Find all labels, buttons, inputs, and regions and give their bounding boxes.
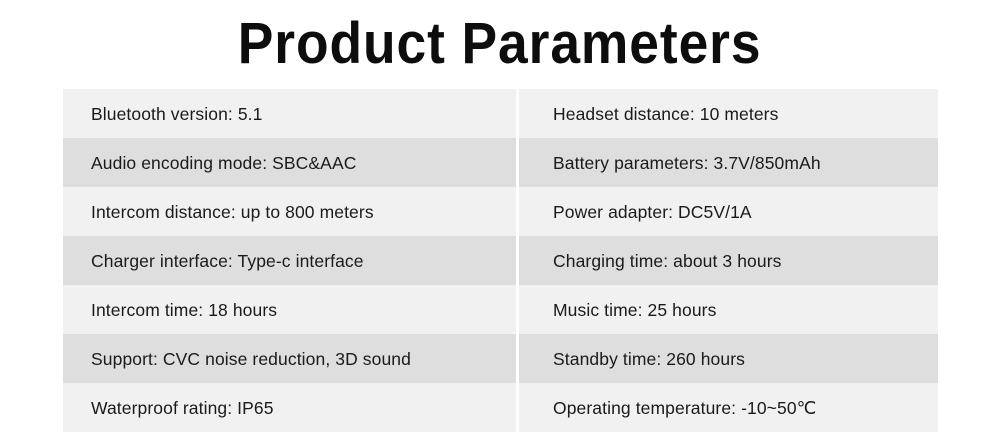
- spec-cell-left: Intercom distance: up to 800 meters: [63, 187, 515, 236]
- table-row: Intercom distance: up to 800 meters Powe…: [63, 187, 938, 236]
- table-row: Waterproof rating: IP65 Operating temper…: [63, 383, 938, 432]
- spec-text: Intercom distance: up to 800 meters: [91, 202, 374, 222]
- table-row: Intercom time: 18 hours Music time: 25 h…: [63, 285, 938, 334]
- spec-text: Bluetooth version: 5.1: [91, 104, 262, 124]
- table-row: Charger interface: Type-c interface Char…: [63, 236, 938, 285]
- spec-cell-right: Operating temperature: -10~50℃: [515, 383, 938, 432]
- spec-cell-left: Charger interface: Type-c interface: [63, 236, 515, 285]
- spec-cell-left: Bluetooth version: 5.1: [63, 89, 515, 138]
- spec-text: Support: CVC noise reduction, 3D sound: [91, 349, 411, 369]
- table-row: Audio encoding mode: SBC&AAC Battery par…: [63, 138, 938, 187]
- spec-cell-left: Intercom time: 18 hours: [63, 285, 515, 334]
- spec-cell-left: Support: CVC noise reduction, 3D sound: [63, 334, 515, 383]
- spec-cell-right: Music time: 25 hours: [515, 285, 938, 334]
- spec-text: Audio encoding mode: SBC&AAC: [91, 153, 356, 173]
- spec-text: Charger interface: Type-c interface: [91, 251, 364, 271]
- spec-text: Operating temperature: -10~50℃: [553, 398, 816, 418]
- product-parameters-page: Product Parameters Bluetooth version: 5.…: [0, 0, 1000, 448]
- spec-text: Music time: 25 hours: [553, 300, 716, 320]
- spec-cell-left: Audio encoding mode: SBC&AAC: [63, 138, 515, 187]
- table-row: Support: CVC noise reduction, 3D sound S…: [63, 334, 938, 383]
- spec-cell-right: Standby time: 260 hours: [515, 334, 938, 383]
- specifications-table: Bluetooth version: 5.1 Headset distance:…: [63, 89, 938, 432]
- page-title: Product Parameters: [238, 15, 762, 73]
- spec-text: Charging time: about 3 hours: [553, 251, 782, 271]
- spec-cell-right: Battery parameters: 3.7V/850mAh: [515, 138, 938, 187]
- spec-text: Power adapter: DC5V/1A: [553, 202, 752, 222]
- spec-text: Waterproof rating: IP65: [91, 398, 274, 418]
- spec-cell-right: Charging time: about 3 hours: [515, 236, 938, 285]
- spec-cell-right: Headset distance: 10 meters: [515, 89, 938, 138]
- spec-text: Headset distance: 10 meters: [553, 104, 778, 124]
- spec-text: Standby time: 260 hours: [553, 349, 745, 369]
- page-title-container: Product Parameters: [0, 8, 1000, 80]
- spec-text: Battery parameters: 3.7V/850mAh: [553, 153, 821, 173]
- table-row: Bluetooth version: 5.1 Headset distance:…: [63, 89, 938, 138]
- spec-cell-right: Power adapter: DC5V/1A: [515, 187, 938, 236]
- spec-text: Intercom time: 18 hours: [91, 300, 277, 320]
- spec-cell-left: Waterproof rating: IP65: [63, 383, 515, 432]
